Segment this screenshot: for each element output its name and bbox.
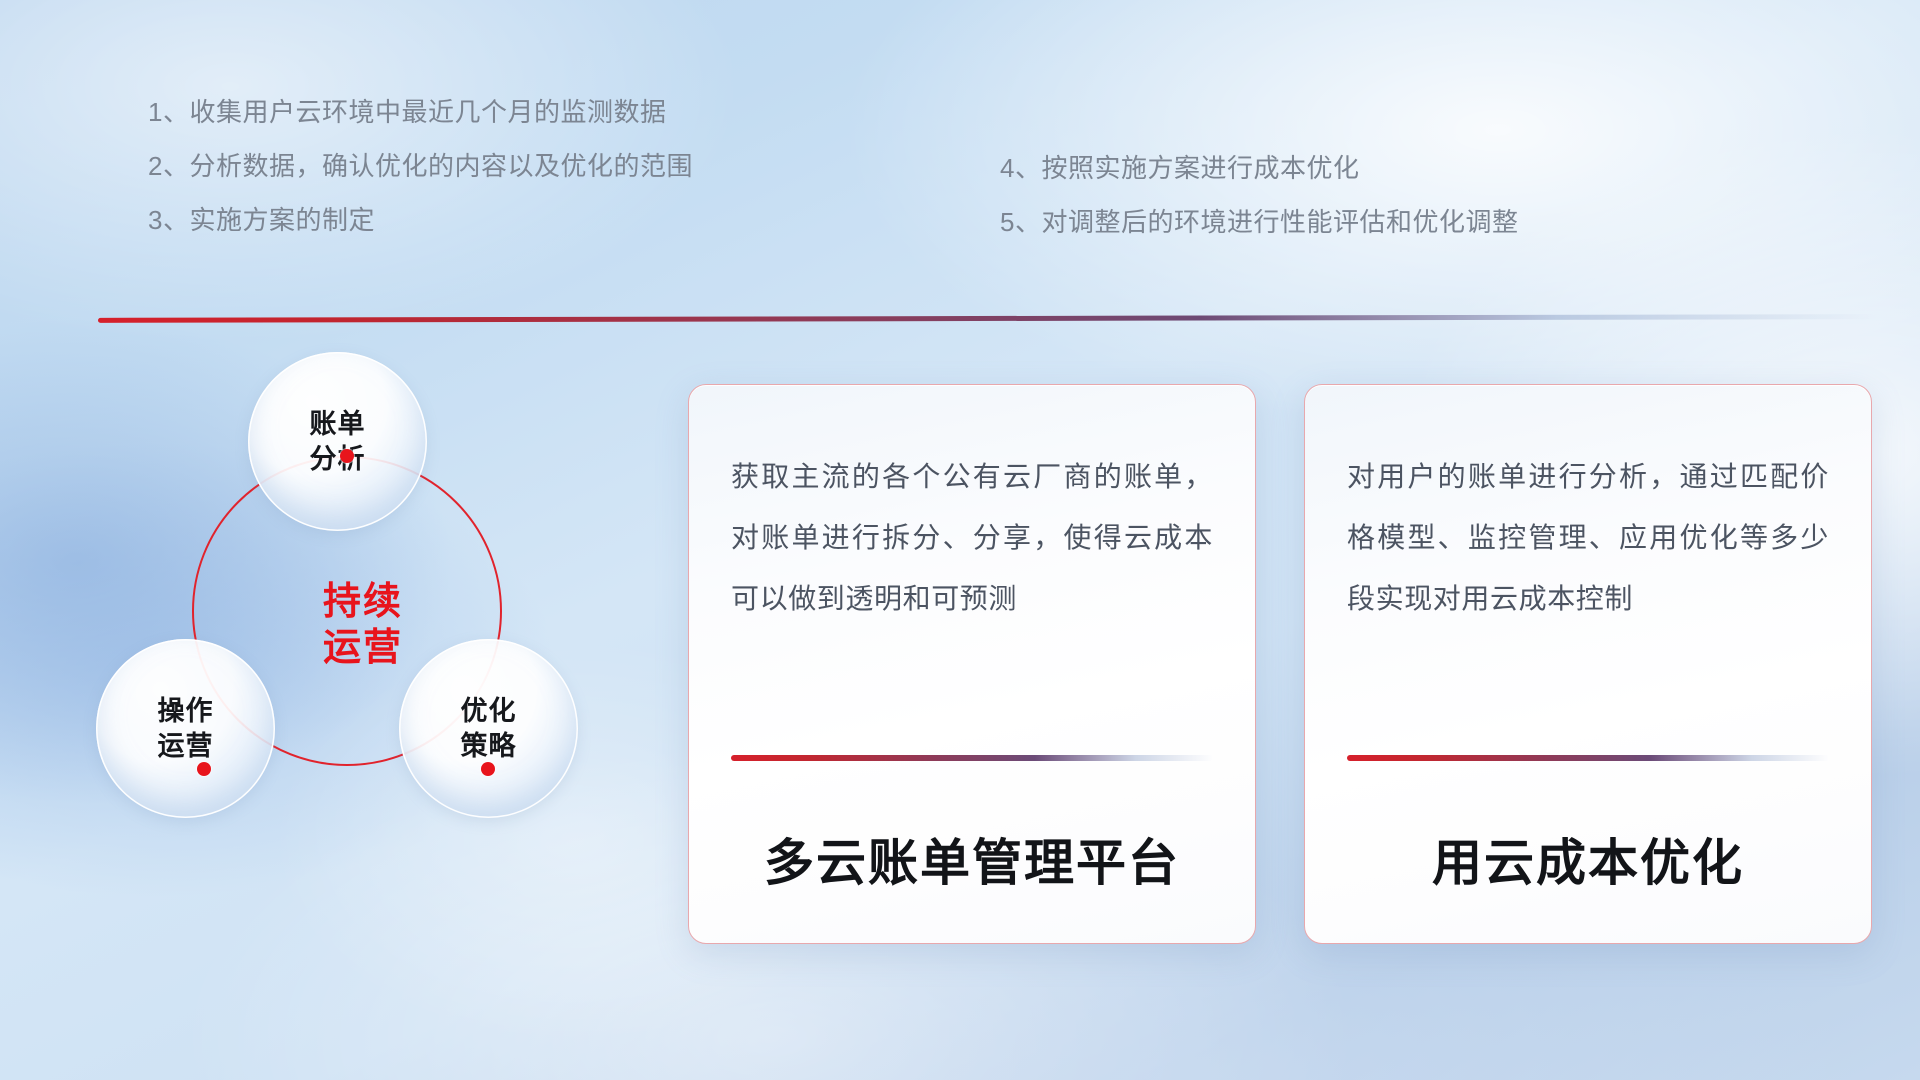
bubble-optimization-strategy-label: 优化 策略: [461, 694, 517, 763]
card-cloud-cost-optimization-title: 用云成本优化: [1347, 836, 1829, 891]
bubble-bill-analysis-line2: 分析: [310, 442, 366, 477]
bubble-bill-analysis[interactable]: 账单 分析: [248, 352, 427, 531]
bubble-bill-analysis-label: 账单 分析: [310, 407, 366, 476]
bubble-operation-line2: 运营: [158, 729, 214, 764]
steps-list-left: 1、收集用户云环境中最近几个月的监测数据 2、分析数据，确认优化的内容以及优化的…: [148, 99, 693, 261]
card-cloud-cost-optimization-rule: [1347, 755, 1829, 761]
bubble-operation[interactable]: 操作 运营: [96, 639, 275, 818]
bubble-operation-line1: 操作: [158, 694, 214, 729]
step-item-3: 3、实施方案的制定: [148, 207, 693, 233]
card-multicloud-billing-title: 多云账单管理平台: [731, 836, 1213, 891]
card-multicloud-billing-rule: [731, 755, 1213, 761]
card-multicloud-billing[interactable]: 获取主流的各个公有云厂商的账单，对账单进行拆分、分享，使得云成本可以做到透明和可…: [688, 384, 1256, 944]
continuous-operation-diagram: 持续 运营 账单 分析 操作 运营 优化 策略: [96, 352, 636, 952]
node-dot-top: [340, 449, 354, 463]
card-multicloud-billing-body: 获取主流的各个公有云厂商的账单，对账单进行拆分、分享，使得云成本可以做到透明和可…: [731, 447, 1213, 629]
bubble-bill-analysis-line1: 账单: [310, 407, 366, 442]
bubble-optimization-strategy[interactable]: 优化 策略: [399, 639, 578, 818]
bubble-operation-label: 操作 运营: [158, 694, 214, 763]
step-item-4: 4、按照实施方案进行成本优化: [1000, 155, 1518, 181]
steps-list-right: 4、按照实施方案进行成本优化 5、对调整后的环境进行性能评估和优化调整: [1000, 155, 1518, 263]
center-ring-label: 持续 运营: [323, 579, 403, 672]
node-dot-left: [197, 762, 211, 776]
center-ring-label-line2: 运营: [323, 625, 403, 671]
node-dot-right: [481, 762, 495, 776]
step-item-1: 1、收集用户云环境中最近几个月的监测数据: [148, 99, 693, 125]
center-ring-label-line1: 持续: [323, 579, 403, 625]
bubble-optimization-strategy-line2: 策略: [461, 729, 517, 764]
bubble-optimization-strategy-line1: 优化: [461, 694, 517, 729]
step-item-2: 2、分析数据，确认优化的内容以及优化的范围: [148, 153, 693, 179]
card-cloud-cost-optimization[interactable]: 对用户的账单进行分析，通过匹配价格模型、监控管理、应用优化等多少段实现对用云成本…: [1304, 384, 1872, 944]
card-cloud-cost-optimization-body: 对用户的账单进行分析，通过匹配价格模型、监控管理、应用优化等多少段实现对用云成本…: [1347, 447, 1829, 629]
step-item-5: 5、对调整后的环境进行性能评估和优化调整: [1000, 209, 1518, 235]
